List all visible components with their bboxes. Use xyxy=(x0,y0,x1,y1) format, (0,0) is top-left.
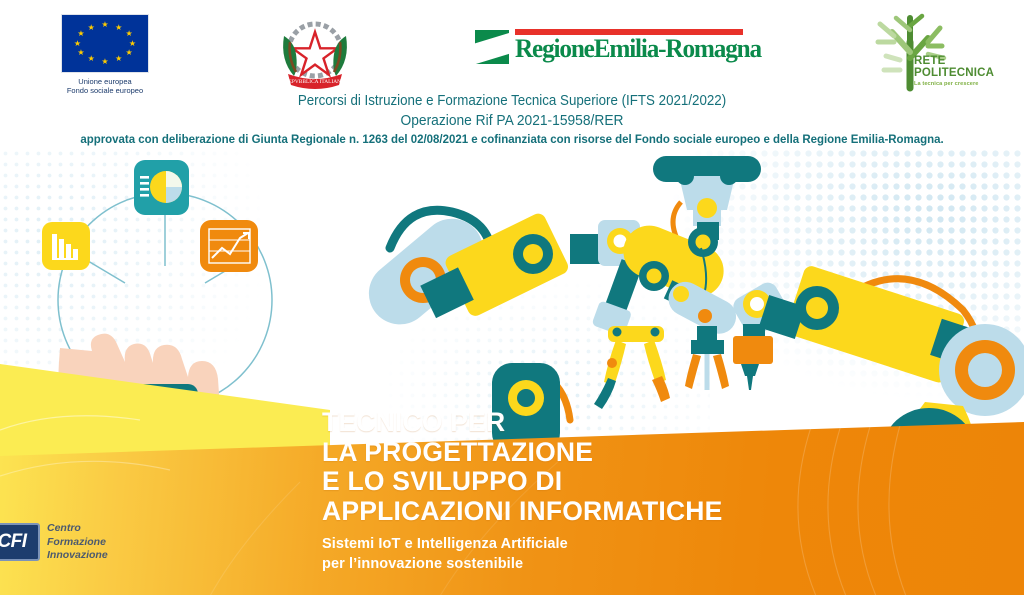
bar-chart-card xyxy=(42,222,90,270)
italian-republic-emblem: REPVBBLICA ITALIANA xyxy=(272,10,358,96)
title-line-3: E LO SVILUPPO DI xyxy=(322,467,723,497)
title-line-1: TECNICO PER xyxy=(322,408,723,438)
header-line-1: Percorsi di Istruzione e Formazione Tecn… xyxy=(41,92,983,111)
header-line-2: Operazione Rif PA 2021-15958/RER xyxy=(41,111,983,131)
cfi-line-1: Centro xyxy=(47,522,108,536)
course-subtitle: Sistemi IoT e Intelligenza Artificiale p… xyxy=(322,534,723,574)
rp-title-line2: POLITECNICA xyxy=(914,68,994,80)
eu-flag-logo: ★ ★ ★ ★ ★ ★ ★ ★ ★ ★ ★ ★ Unione europea F… xyxy=(40,14,170,95)
course-title-block: TECNICO PER LA PROGETTAZIONE E LO SVILUP… xyxy=(322,408,723,574)
cfi-badge: CFI xyxy=(0,523,40,561)
rete-politecnica-logo: RETE POLITECNICA La tecnica per crescere xyxy=(870,12,996,98)
cfi-wordmark: Centro Formazione Innovazione xyxy=(47,522,108,563)
tool-head xyxy=(733,336,773,364)
rp-tagline: La tecnica per crescere xyxy=(914,81,994,87)
rp-title: RETE POLITECNICA xyxy=(914,56,994,79)
header-line-3: approvata con deliberazione di Giunta Re… xyxy=(31,131,994,147)
eu-flag: ★ ★ ★ ★ ★ ★ ★ ★ ★ ★ ★ ★ xyxy=(61,14,149,73)
cfi-acronym: CFI xyxy=(0,531,27,553)
eu-caption-line1: Unione europea xyxy=(40,77,170,86)
header-caption: Percorsi di Istruzione e Formazione Tecn… xyxy=(0,92,1024,147)
title-line-2: LA PROGETTAZIONE xyxy=(322,438,723,468)
pie-chart-card xyxy=(134,160,189,215)
cfi-logo: CFI Centro Formazione Innovazione xyxy=(0,522,108,563)
rp-title-line1: RETE xyxy=(914,56,994,68)
cfi-line-2: Formazione xyxy=(47,536,108,550)
rer-mark-icon xyxy=(475,30,509,64)
subtitle-line-1: Sistemi IoT e Intelligenza Artificiale xyxy=(322,534,723,554)
cfi-line-3: Innovazione xyxy=(47,549,108,563)
line-chart-card xyxy=(200,220,258,272)
poster-canvas: ★ ★ ★ ★ ★ ★ ★ ★ ★ ★ ★ ★ Unione europea F… xyxy=(0,0,1024,595)
header-band: ★ ★ ★ ★ ★ ★ ★ ★ ★ ★ ★ ★ Unione europea F… xyxy=(0,0,1024,150)
title-line-4: APPLICAZIONI INFORMATICHE xyxy=(322,497,723,527)
ribbon-text: REPVBBLICA ITALIANA xyxy=(285,79,345,85)
subtitle-line-2: per l’innovazione sostenibile xyxy=(322,554,723,574)
regione-emilia-romagna-logo: RegioneEmilia-Romagna xyxy=(475,24,743,70)
rer-wordmark: RegioneEmilia-Romagna xyxy=(515,34,740,64)
